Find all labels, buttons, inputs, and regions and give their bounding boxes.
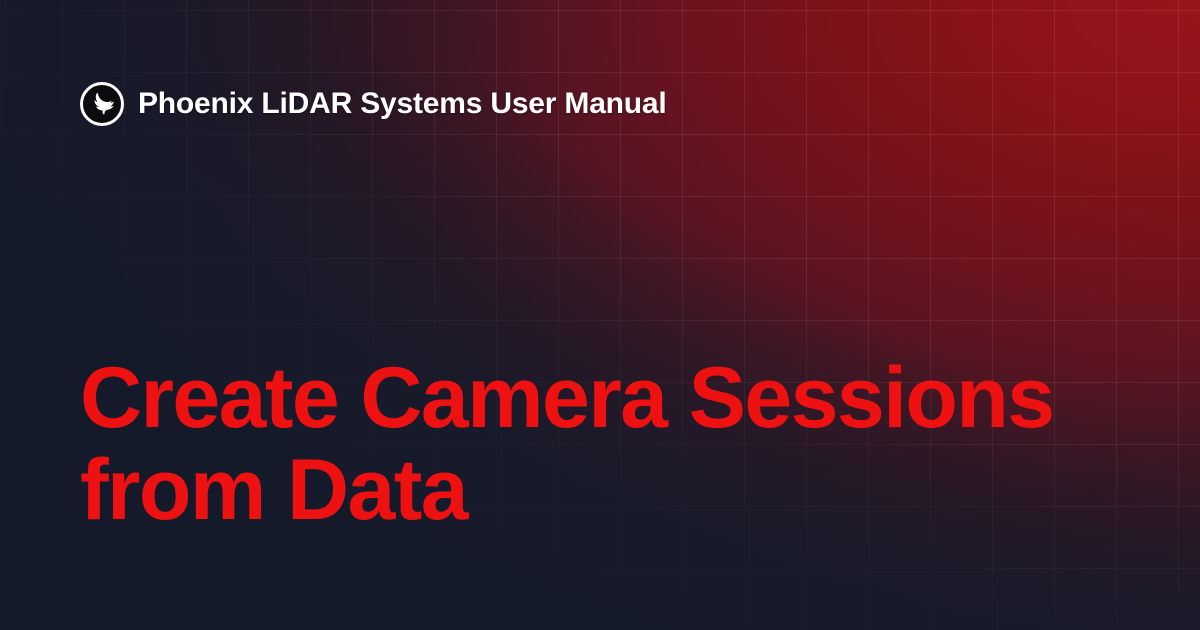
card-content: Phoenix LiDAR Systems User Manual Create… bbox=[0, 0, 1200, 630]
brand-lockup: Phoenix LiDAR Systems User Manual bbox=[80, 80, 667, 128]
page-title: Create Camera Sessions from Data bbox=[80, 352, 1120, 536]
brand-title: Phoenix LiDAR Systems User Manual bbox=[138, 89, 667, 119]
phoenix-bird-icon bbox=[80, 82, 124, 126]
share-card: Phoenix LiDAR Systems User Manual Create… bbox=[0, 0, 1200, 630]
